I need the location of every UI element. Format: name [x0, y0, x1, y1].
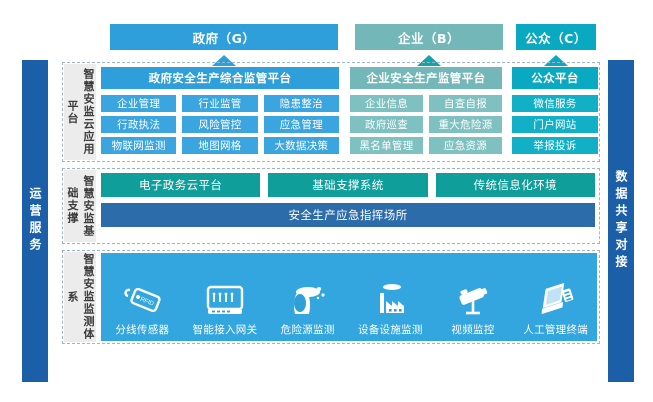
- table-row: 政府巡查 重大危险源: [350, 116, 502, 133]
- column-government-head[interactable]: 政府安全生产综合监管平台: [101, 67, 339, 89]
- tier-label-cloud-text: 智慧安监云应用平台: [64, 64, 96, 160]
- sidebar-data-sharing-label: 数据共享对接: [608, 170, 634, 272]
- tier-label-cloud: 智慧安监云应用平台: [64, 64, 96, 160]
- tier-cloud-body: 政府安全生产综合监管平台 企业管理 行业监管 隐患整治 行政执法 风险管控 应急…: [101, 67, 595, 157]
- device-video-surveillance-label: 视频监控: [451, 322, 494, 337]
- device-line-sensor-label: 分线传感器: [115, 322, 169, 337]
- module-risk-control[interactable]: 风险管控: [182, 116, 257, 133]
- role-government[interactable]: 政府（G）: [110, 24, 338, 50]
- role-public-label: 公众（C）: [525, 28, 587, 47]
- tier-label-infrastructure: 智慧安监基础支撑: [64, 170, 96, 242]
- module-government-inspection[interactable]: 政府巡查: [350, 116, 423, 133]
- column-public: 公众平台 微信服务 门户网站 举报投诉: [512, 67, 598, 157]
- module-enterprise-info[interactable]: 企业信息: [350, 95, 423, 112]
- module-iot-monitoring[interactable]: 物联网监测: [101, 137, 176, 154]
- module-major-hazard-source[interactable]: 重大危险源: [429, 116, 502, 133]
- cctv-camera-icon: [451, 280, 495, 320]
- device-smart-gateway[interactable]: 智能接入网关: [184, 280, 267, 337]
- device-hazard-source-monitoring[interactable]: 危险源监测: [266, 280, 349, 337]
- device-manual-management-terminal[interactable]: 人工管理终端: [514, 280, 597, 337]
- column-government-grid: 企业管理 行业监管 隐患整治 行政执法 风险管控 应急管理 物联网监测 地图网格: [101, 95, 339, 154]
- architecture-diagram: 政府（G） 企业（B） 公众（C） 运营服务 数据共享对接 智慧安监云应用平台: [0, 0, 653, 402]
- sidebar-operation-services-label: 运营服务: [22, 187, 48, 255]
- table-row: 企业信息 自查自报: [350, 95, 502, 112]
- column-enterprise-head-label: 企业安全生产监管平台: [367, 70, 486, 86]
- module-hazard-rectification[interactable]: 隐患整治: [264, 95, 339, 112]
- module-map-grid[interactable]: 地图网格: [182, 137, 257, 154]
- monitoring-device-panel: RFID 分线传感器: [101, 253, 597, 341]
- module-blacklist-management[interactable]: 黑名单管理: [350, 137, 423, 154]
- role-enterprise[interactable]: 企业（B）: [355, 24, 503, 50]
- table-row: 举报投诉: [512, 137, 598, 154]
- device-equipment-facility-monitoring-label: 设备设施监测: [358, 322, 423, 337]
- table-row: 黑名单管理 应急资源: [350, 137, 502, 154]
- tier-monitoring-system: 智慧安监监测体系 RFID: [62, 250, 600, 344]
- module-emergency-management[interactable]: 应急管理: [264, 116, 339, 133]
- device-smart-gateway-label: 智能接入网关: [193, 322, 258, 337]
- column-enterprise-head[interactable]: 企业安全生产监管平台: [350, 67, 502, 89]
- role-government-label: 政府（G）: [193, 28, 256, 47]
- column-public-head[interactable]: 公众平台: [512, 67, 598, 89]
- module-portal-website[interactable]: 门户网站: [512, 116, 598, 133]
- gateway-monitor-icon: [203, 280, 247, 320]
- tier-label-monitoring: 智慧安监监测体系: [64, 252, 96, 342]
- device-hazard-source-monitoring-label: 危险源监测: [281, 322, 335, 337]
- table-row: 物联网监测 地图网格 大数据决策: [101, 137, 339, 154]
- role-bar: 政府（G） 企业（B） 公众（C）: [0, 24, 653, 50]
- module-emergency-resources[interactable]: 应急资源: [429, 137, 502, 154]
- device-equipment-facility-monitoring[interactable]: 设备设施监测: [349, 280, 432, 337]
- module-enterprise-management[interactable]: 企业管理: [101, 95, 176, 112]
- table-row: 企业管理 行业监管 隐患整治: [101, 95, 339, 112]
- device-manual-management-terminal-label: 人工管理终端: [523, 322, 588, 337]
- module-administrative-enforcement[interactable]: 行政执法: [101, 116, 176, 133]
- column-government-head-label: 政府安全生产综合监管平台: [149, 70, 292, 86]
- factory-icon: [368, 280, 412, 320]
- role-public[interactable]: 公众（C）: [516, 24, 596, 50]
- laptop-terminal-icon: [534, 280, 578, 320]
- support-basic-support-system[interactable]: 基础支撑系统: [268, 173, 427, 197]
- column-enterprise: 企业安全生产监管平台 企业信息 自查自报 政府巡查 重大危险源 黑名单管理: [350, 67, 502, 157]
- table-row: 行政执法 风险管控 应急管理: [101, 116, 339, 133]
- module-report-complaint[interactable]: 举报投诉: [512, 137, 598, 154]
- tier-label-monitoring-text: 智慧安监监测体系: [64, 252, 96, 342]
- column-public-head-label: 公众平台: [531, 70, 579, 86]
- sidebar-data-sharing: 数据共享对接: [608, 60, 634, 382]
- tier-cloud-application-platform: 智慧安监云应用平台 政府安全生产综合监管平台 企业管理 行业监管 隐患整治: [62, 62, 600, 162]
- module-industry-supervision[interactable]: 行业监管: [182, 95, 257, 112]
- role-enterprise-label: 企业（B）: [398, 28, 460, 47]
- device-line-sensor[interactable]: RFID 分线传感器: [101, 280, 184, 337]
- module-wechat-service[interactable]: 微信服务: [512, 95, 598, 112]
- sidebar-operation-services: 运营服务: [22, 60, 48, 382]
- table-row: 微信服务: [512, 95, 598, 112]
- tier-label-infrastructure-text: 智慧安监基础支撑: [64, 170, 96, 242]
- architecture-frame: 智慧安监云应用平台 政府安全生产综合监管平台 企业管理 行业监管 隐患整治: [62, 62, 600, 380]
- support-systems-row: 电子政务云平台 基础支撑系统 传统信息化环境: [101, 173, 595, 197]
- support-legacy-it-environment[interactable]: 传统信息化环境: [436, 173, 595, 197]
- column-government: 政府安全生产综合监管平台 企业管理 行业监管 隐患整治 行政执法 风险管控 应急…: [101, 67, 339, 157]
- table-row: 门户网站: [512, 116, 598, 133]
- rfid-tag-icon: RFID: [120, 280, 164, 320]
- module-self-inspection-report[interactable]: 自查自报: [429, 95, 502, 112]
- tier-infrastructure-body: 电子政务云平台 基础支撑系统 传统信息化环境 安全生产应急指挥场所: [101, 173, 595, 239]
- module-big-data-decision[interactable]: 大数据决策: [264, 137, 339, 154]
- column-enterprise-grid: 企业信息 自查自报 政府巡查 重大危险源 黑名单管理 应急资源: [350, 95, 502, 154]
- support-emergency-command-center[interactable]: 安全生产应急指挥场所: [101, 203, 595, 227]
- device-video-surveillance[interactable]: 视频监控: [432, 280, 515, 337]
- support-egov-cloud-platform[interactable]: 电子政务云平台: [101, 173, 260, 197]
- hazard-source-icon: [286, 280, 330, 320]
- tier-infrastructure-support: 智慧安监基础支撑 电子政务云平台 基础支撑系统 传统信息化环境 安全生产应急指挥…: [62, 168, 600, 244]
- column-public-grid: 微信服务 门户网站 举报投诉: [512, 95, 598, 154]
